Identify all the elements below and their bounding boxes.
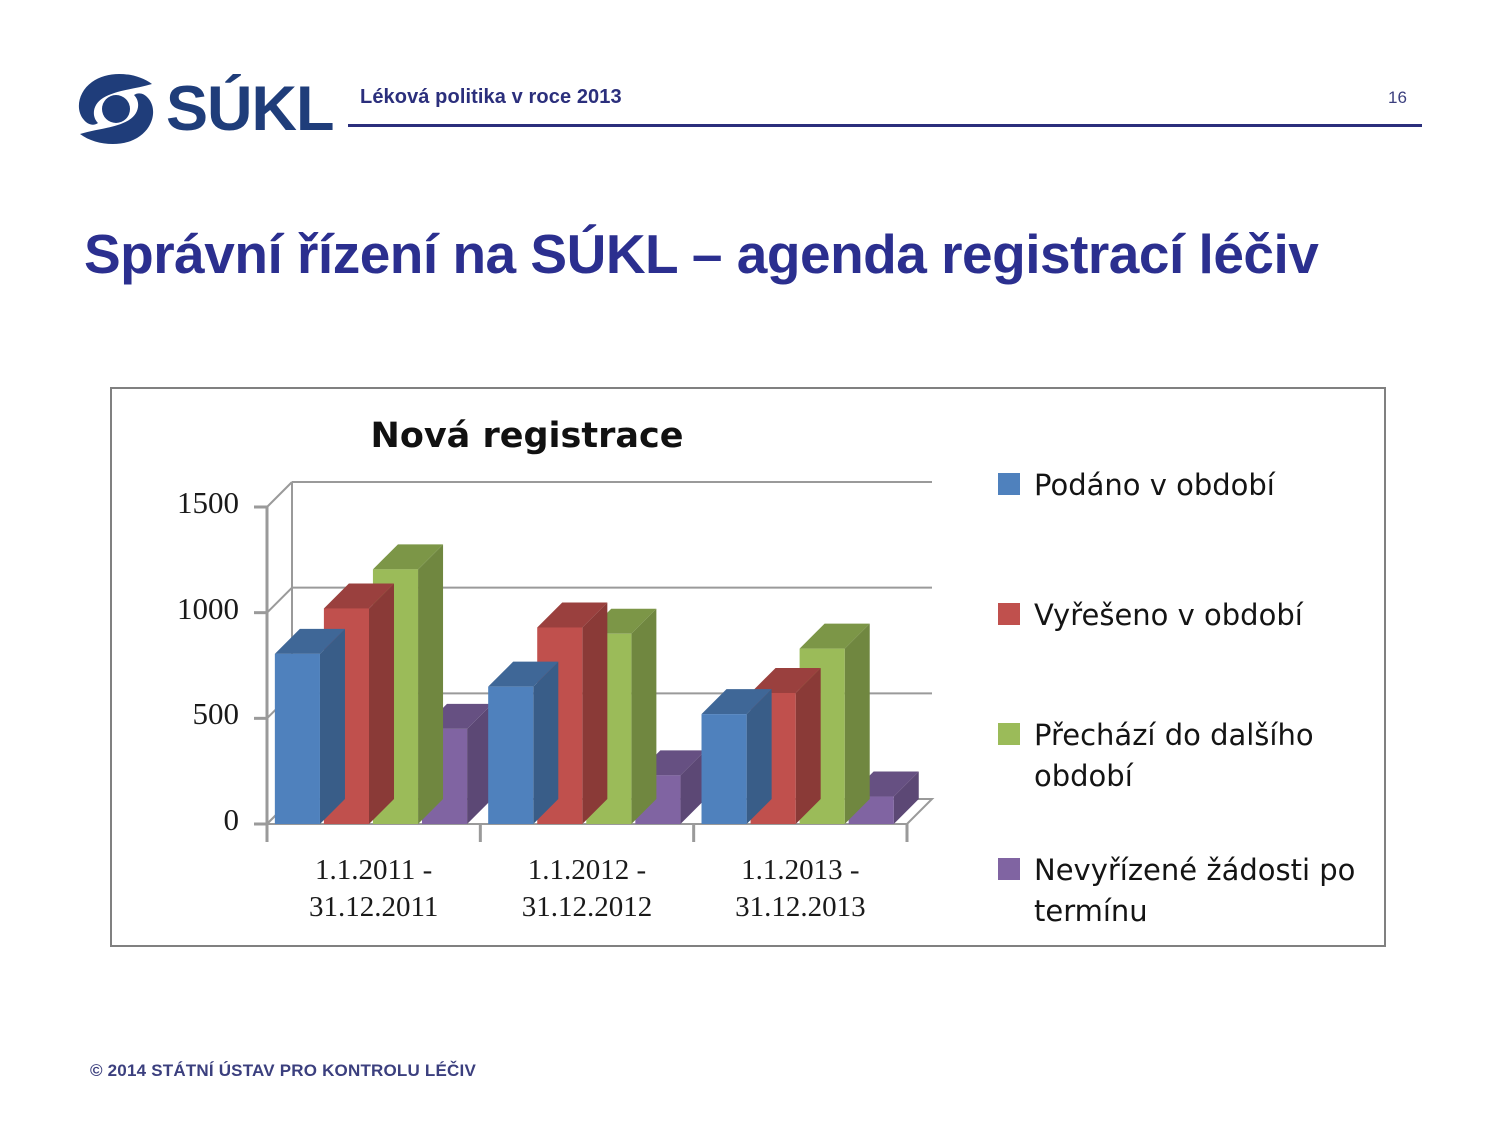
y-axis-tick-label: 0 bbox=[104, 802, 239, 838]
chart-container: Nová registrace 0500100015001.1.2011 -31… bbox=[110, 387, 1386, 947]
y-axis-tick-label: 1000 bbox=[104, 591, 239, 627]
x-axis-category-line: 31.12.2013 bbox=[690, 889, 910, 926]
legend-label: Nevyřízené žádosti po termínu bbox=[1034, 850, 1364, 932]
slide-header: SÚKL Léková politika v roce 2013 16 bbox=[0, 0, 1500, 160]
bar-2-series-1 bbox=[488, 662, 558, 824]
x-axis-category-line: 1.1.2013 - bbox=[690, 852, 910, 889]
x-axis-category-label: 1.1.2012 -31.12.2012 bbox=[477, 852, 697, 926]
legend-swatch-icon bbox=[998, 473, 1020, 495]
legend-label: Vyřešeno v období bbox=[1034, 595, 1303, 636]
x-axis-category-line: 1.1.2011 - bbox=[264, 852, 484, 889]
legend-item-1[interactable]: Podáno v období bbox=[998, 465, 1275, 506]
page-title: Správní řízení na SÚKL – agenda registra… bbox=[84, 222, 1424, 286]
page-number: 16 bbox=[1388, 88, 1407, 108]
legend-item-3[interactable]: Přechází do dalšího období bbox=[998, 715, 1364, 797]
legend-item-4[interactable]: Nevyřízené žádosti po termínu bbox=[998, 850, 1364, 932]
legend-item-2[interactable]: Vyřešeno v období bbox=[998, 595, 1303, 636]
legend-swatch-icon bbox=[998, 603, 1020, 625]
sukl-swirl-icon bbox=[74, 68, 158, 150]
legend-swatch-icon bbox=[998, 858, 1020, 880]
bar-1-series-1 bbox=[275, 629, 345, 824]
x-axis-category-label: 1.1.2013 -31.12.2013 bbox=[690, 852, 910, 926]
x-axis-category-label: 1.1.2011 -31.12.2011 bbox=[264, 852, 484, 926]
y-axis-tick-label: 1500 bbox=[104, 485, 239, 521]
sukl-logo: SÚKL bbox=[74, 66, 314, 152]
bar-3-series-1 bbox=[702, 689, 772, 824]
x-axis-category-line: 31.12.2011 bbox=[264, 889, 484, 926]
copyright-footer: © 2014 STÁTNÍ ÚSTAV PRO KONTROLU LÉČIV bbox=[90, 1061, 476, 1081]
header-divider bbox=[348, 124, 1422, 127]
y-axis-tick-label: 500 bbox=[104, 696, 239, 732]
legend-swatch-icon bbox=[998, 723, 1020, 745]
legend-label: Podáno v období bbox=[1034, 465, 1275, 506]
x-axis-category-line: 31.12.2012 bbox=[477, 889, 697, 926]
legend-label: Přechází do dalšího období bbox=[1034, 715, 1364, 797]
logo-wordmark: SÚKL bbox=[166, 70, 334, 148]
x-axis-category-line: 1.1.2012 - bbox=[477, 852, 697, 889]
header-subtitle: Léková politika v roce 2013 bbox=[360, 86, 622, 109]
